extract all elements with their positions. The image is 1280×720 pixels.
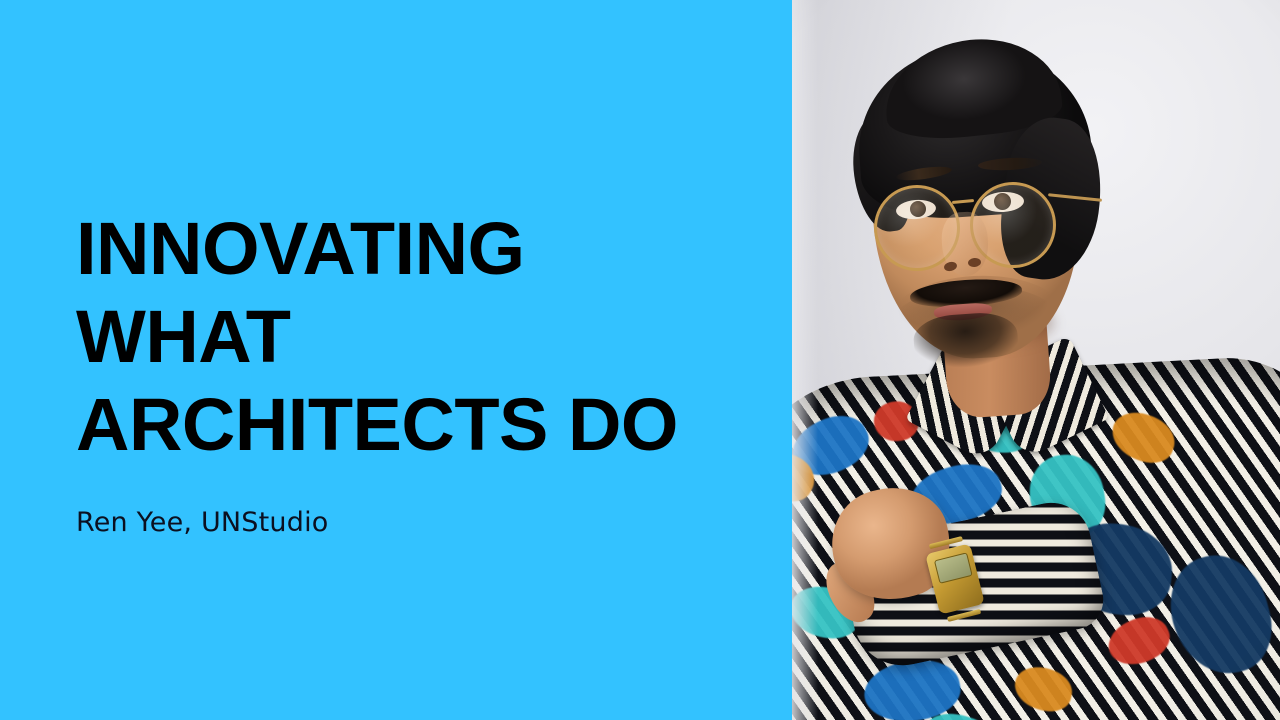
blue-title-panel: INNOVATING WHAT ARCHITECTS DO Ren Yee, U… (0, 0, 792, 720)
title-line-3: ARCHITECTS DO (76, 381, 736, 469)
watch-face (934, 552, 973, 584)
glasses-temple (1048, 193, 1102, 202)
title-slide: INNOVATING WHAT ARCHITECTS DO Ren Yee, U… (0, 0, 1280, 720)
speaker-portrait-photo (792, 0, 1280, 720)
glasses-bridge (952, 199, 974, 204)
slide-title: INNOVATING WHAT ARCHITECTS DO (76, 205, 736, 469)
title-line-2: WHAT (76, 293, 736, 381)
title-line-1: INNOVATING (76, 205, 736, 293)
speaker-subtitle: Ren Yee, UNStudio (76, 507, 329, 538)
